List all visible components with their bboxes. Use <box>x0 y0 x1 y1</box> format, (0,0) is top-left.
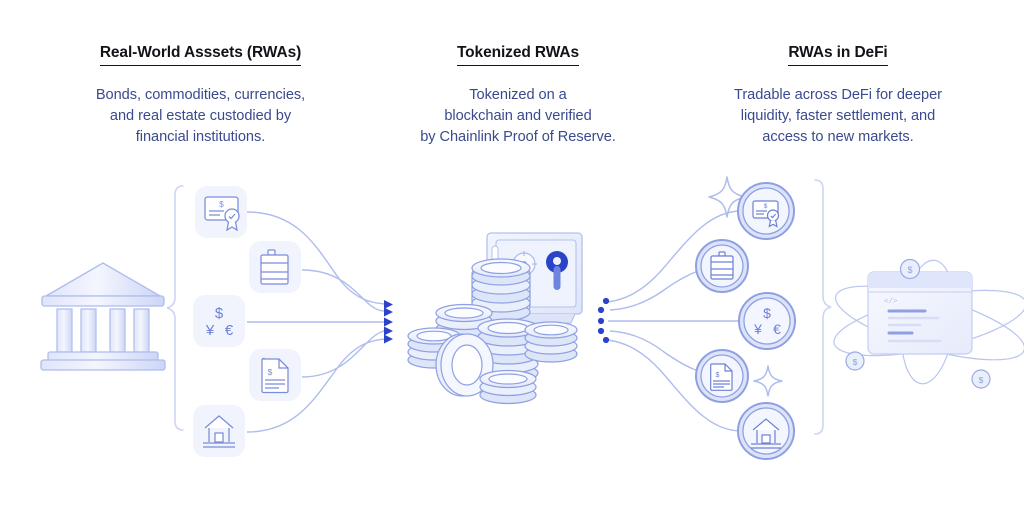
defi-illustration: </> $ $ $ <box>829 258 1024 388</box>
svg-text:$: $ <box>907 265 912 275</box>
arrowhead-icon <box>384 335 393 344</box>
invoice-document-icon: $ <box>262 359 288 393</box>
asset-tile-invoice[interactable]: $ <box>249 349 301 401</box>
curly-brace-right-icon <box>815 180 831 434</box>
inbound-arrowheads <box>384 300 393 344</box>
coin-stack <box>525 322 577 362</box>
asset-tile-realestate[interactable] <box>193 405 245 457</box>
code-tag-label: </> <box>884 298 898 306</box>
invoice-document-token-icon: $ <box>711 364 732 390</box>
token-currency[interactable]: $ ¥ € <box>739 293 795 349</box>
diagram-illustration: $ $ ¥ € <box>0 0 1024 510</box>
infographic-root: Real-World Asssets (RWAs) Bonds, commodi… <box>0 0 1024 510</box>
asset-tile-currency[interactable]: $ ¥ € <box>193 295 245 347</box>
asset-tile-bond[interactable]: $ <box>195 186 247 238</box>
arrowhead-icon <box>384 308 393 317</box>
connector-dot-icon <box>598 318 604 324</box>
svg-text:$: $ <box>716 372 720 379</box>
connector-dot-icon <box>603 298 609 304</box>
curly-brace-left-icon <box>167 186 183 430</box>
connector-dot-icon <box>598 328 604 334</box>
arrowhead-icon <box>384 327 393 336</box>
asset-tile-commodity[interactable] <box>249 241 301 293</box>
svg-text:$: $ <box>764 203 768 210</box>
currency-euro-glyph: € <box>773 321 781 337</box>
svg-text:$: $ <box>219 200 224 209</box>
arrowhead-icon <box>384 300 393 309</box>
currency-dollar-glyph: $ <box>215 305 224 322</box>
svg-text:$: $ <box>853 357 858 367</box>
outbound-origin-dots <box>598 298 609 343</box>
currency-yen-glyph: ¥ <box>205 322 215 339</box>
bank-building-icon <box>41 263 165 370</box>
code-window-icon: </> <box>868 272 972 354</box>
dollar-coin-icon: $ <box>846 352 864 370</box>
coin-stack <box>480 371 536 404</box>
token-realestate[interactable] <box>738 403 794 459</box>
connector-dot-icon <box>598 307 604 313</box>
svg-text:$: $ <box>268 367 273 377</box>
currency-euro-glyph: € <box>225 322 234 339</box>
currency-dollar-glyph: $ <box>763 305 771 321</box>
connector-dot-icon <box>603 337 609 343</box>
currency-yen-glyph: ¥ <box>753 321 762 337</box>
oil-barrel-icon <box>261 250 288 284</box>
dollar-coin-icon: $ <box>901 260 920 279</box>
arrowhead-icon <box>384 318 393 327</box>
oil-barrel-token-icon <box>711 252 733 279</box>
token-bond[interactable]: $ <box>738 183 794 239</box>
svg-text:$: $ <box>979 375 984 385</box>
sparkle-icon <box>754 366 782 396</box>
token-invoice[interactable]: $ <box>696 350 748 402</box>
dollar-coin-icon: $ <box>972 370 990 388</box>
token-commodity[interactable] <box>696 240 748 292</box>
